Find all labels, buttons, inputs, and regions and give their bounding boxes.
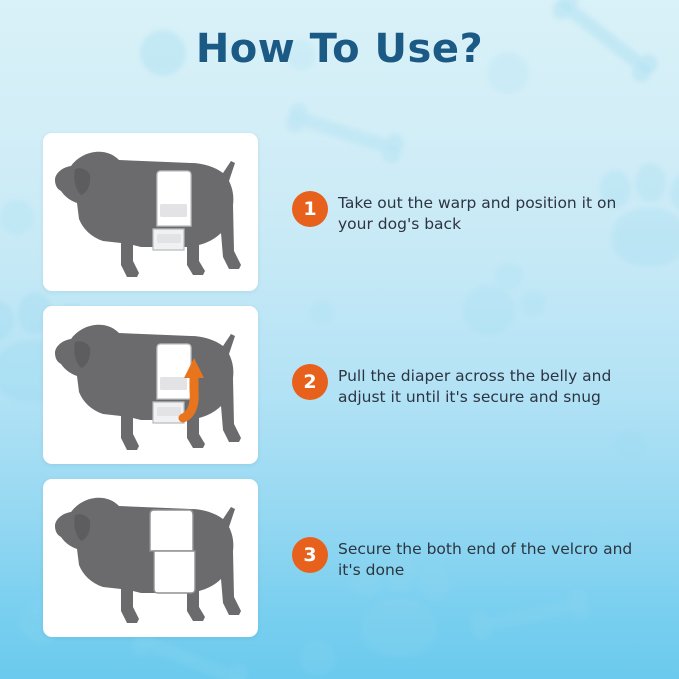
diaper-lower-band [154, 551, 195, 593]
step-row: 3 Secure the both end of the velcro and … [0, 479, 679, 652]
velcro-patch-lower [157, 407, 181, 416]
velcro-patch-upper [160, 204, 187, 217]
step-number-badge: 2 [292, 364, 328, 400]
step-row: 1 Take out the warp and position it on y… [0, 133, 679, 306]
diaper-upper-band [150, 510, 193, 551]
dog-with-wrap-on-back-illustration [43, 133, 258, 291]
step-row: 2 Pull the diaper across the belly and a… [0, 306, 679, 479]
diaper-back-panel [157, 171, 191, 226]
dog-with-diaper-fastened-illustration [43, 479, 258, 637]
step-description: Pull the diaper across the belly and adj… [338, 363, 650, 409]
page-title: How To Use? [0, 26, 679, 72]
velcro-patch-lower [157, 234, 181, 243]
step-text-block: 1 Take out the warp and position it on y… [292, 190, 659, 236]
diaper-back-panel [157, 344, 191, 399]
steps-list: 1 Take out the warp and position it on y… [0, 133, 679, 652]
velcro-patch-upper [160, 377, 187, 390]
step-number-badge: 3 [292, 537, 328, 573]
step-number-badge: 1 [292, 191, 328, 227]
step-description: Secure the both end of the velcro and it… [338, 536, 650, 582]
step-text-block: 2 Pull the diaper across the belly and a… [292, 363, 659, 409]
step-text-block: 3 Secure the both end of the velcro and … [292, 536, 659, 582]
dog-with-wrap-and-up-arrow-illustration [43, 306, 258, 464]
step-illustration-card-3 [43, 479, 258, 637]
step-description: Take out the warp and position it on you… [338, 190, 650, 236]
step-illustration-card-2 [43, 306, 258, 464]
step-illustration-card-1 [43, 133, 258, 291]
